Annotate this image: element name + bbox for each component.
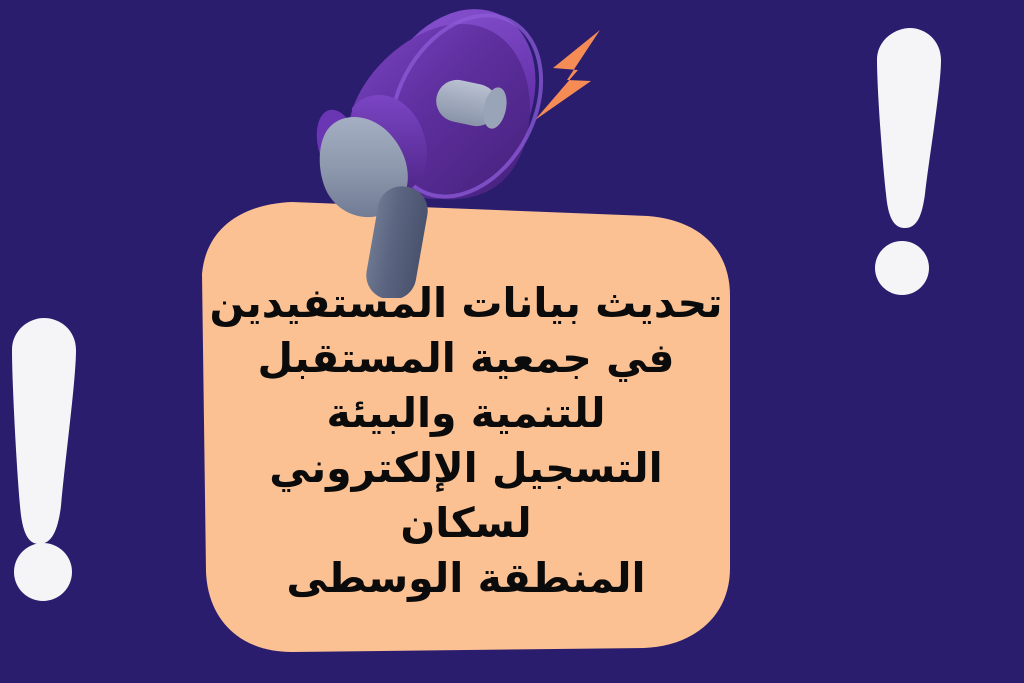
announcement-line-6: المنطقة الوسطى — [196, 551, 736, 606]
announcement-poster: تحديث بيانات المستفيدين في جمعية المستقب… — [0, 0, 1024, 683]
announcement-line-3: للتنمية والبيئة — [196, 386, 736, 441]
exclamation-mark-left-icon — [0, 310, 108, 610]
announcement-line-4: التسجيل الإلكتروني — [196, 441, 736, 496]
announcement-line-5: لسكان — [196, 496, 736, 551]
announcement-text: تحديث بيانات المستفيدين في جمعية المستقب… — [196, 276, 736, 606]
megaphone-icon — [290, 8, 640, 298]
lightning-bolt-icon — [535, 30, 600, 120]
announcement-line-2: في جمعية المستقبل — [196, 331, 736, 386]
exclamation-mark-right-icon — [855, 18, 965, 298]
